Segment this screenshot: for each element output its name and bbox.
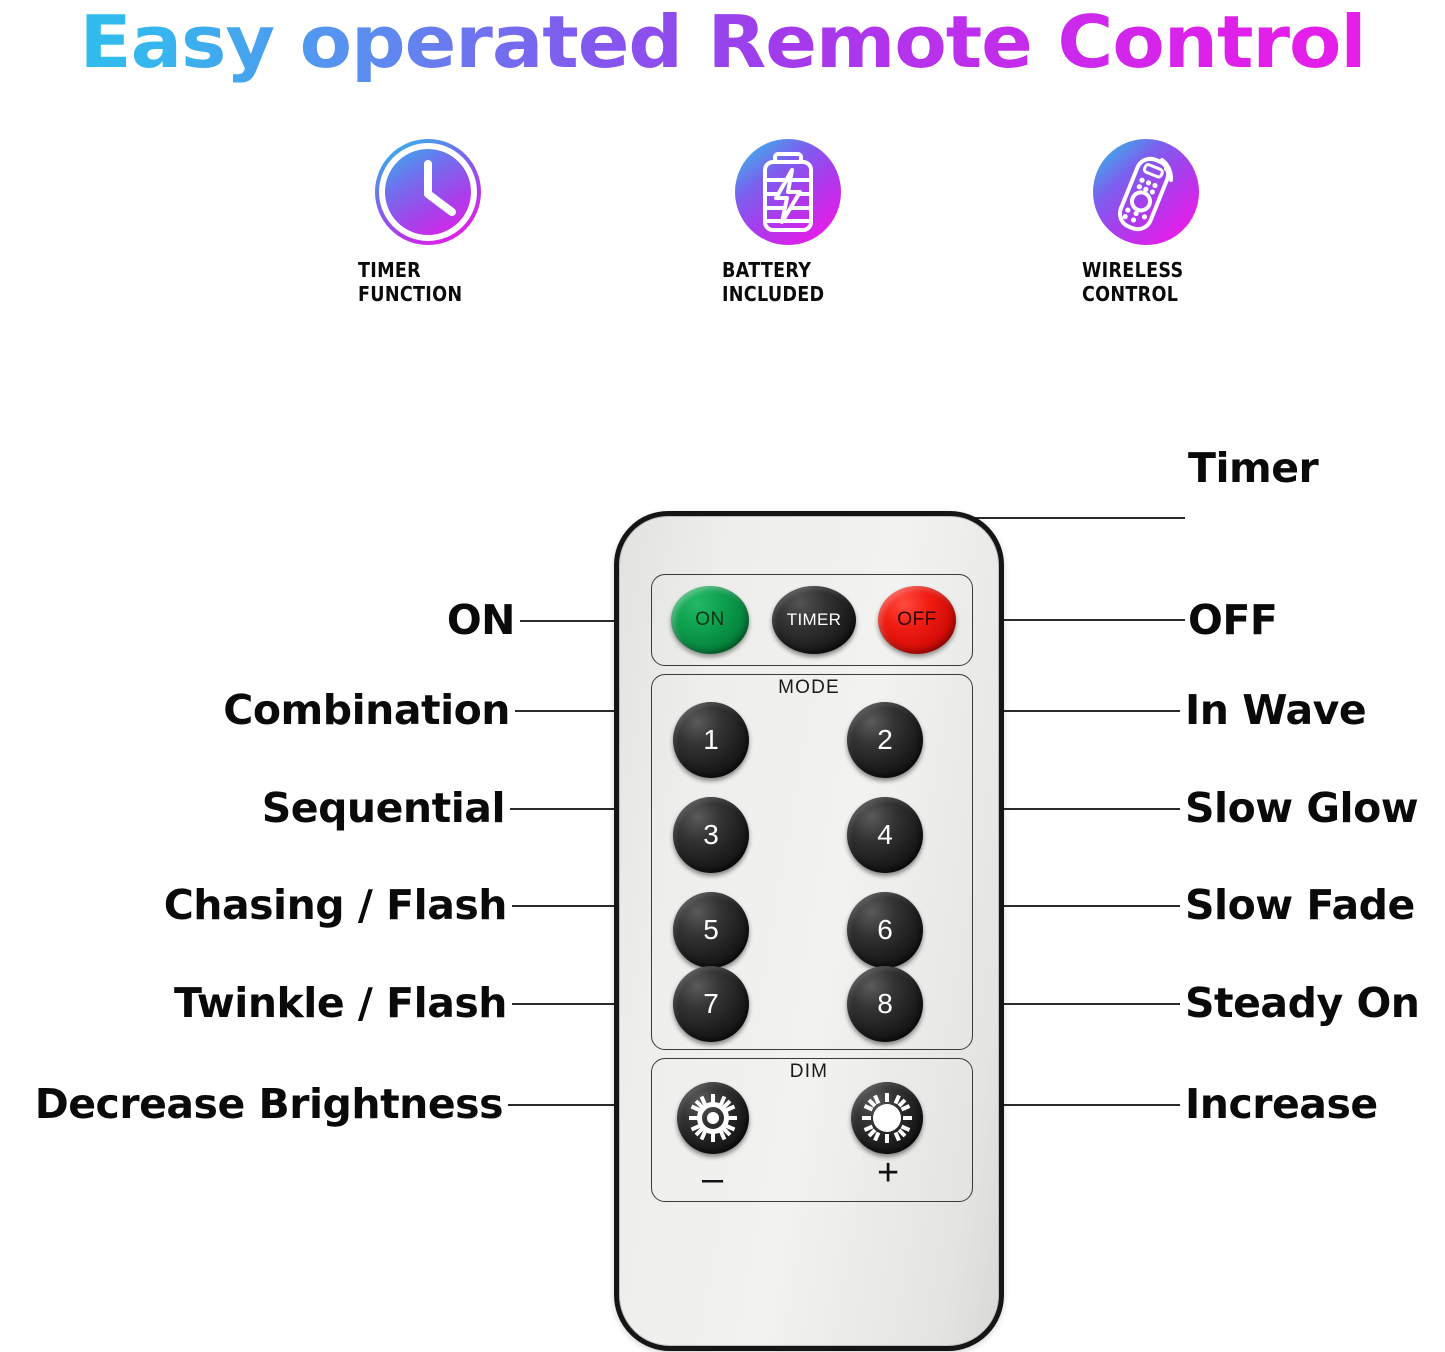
feature-badge-wireless: WIRELESS CONTROL [1082, 136, 1342, 306]
feature-badge-timer-label: TIMER FUNCTION [358, 258, 587, 306]
page-title: Easy operated Remote Control [0, 0, 1445, 90]
feature-badge-row: TIMER FUNCTION BATTERY INCLUDED [0, 136, 1445, 316]
callout-chasing-flash: Chasing / Flash [164, 881, 507, 929]
feature-badge-battery: BATTERY INCLUDED [722, 136, 982, 306]
remote-button-mode-7[interactable]: 7 [673, 966, 749, 1042]
dim-panel-label: DIM [619, 1061, 999, 1083]
remote-button-timer[interactable]: TIMER [772, 586, 856, 654]
callout-combination: Combination [223, 686, 510, 734]
callout-twinkle-flash: Twinkle / Flash [174, 979, 507, 1027]
remote-button-mode-6[interactable]: 6 [847, 892, 923, 968]
callout-in-wave: In Wave [1185, 686, 1366, 734]
remote-button-mode-5[interactable]: 5 [673, 892, 749, 968]
dim-decrease-sign: – [702, 1160, 723, 1198]
remote-button-on[interactable]: ON [671, 586, 749, 654]
callout-off: OFF [1188, 596, 1277, 644]
remote-control-body: MODE DIM ON TIMER OFF 1 2 3 4 5 6 7 8 [614, 511, 1004, 1351]
callout-steady-on: Steady On [1185, 979, 1420, 1027]
remote-button-mode-2[interactable]: 2 [847, 702, 923, 778]
feature-badge-wireless-label: WIRELESS CONTROL [1082, 258, 1311, 306]
dim-increase-sign: + [877, 1154, 899, 1192]
brightness-low-icon [685, 1090, 741, 1146]
remote-button-dim-decrease[interactable] [677, 1082, 749, 1154]
callout-sequential: Sequential [262, 784, 505, 832]
callout-decrease-brightness: Decrease Brightness [35, 1080, 503, 1128]
remote-icon [1090, 136, 1202, 248]
clock-icon [372, 136, 484, 248]
feature-badge-timer: TIMER FUNCTION [358, 136, 618, 306]
callout-slow-glow: Slow Glow [1185, 784, 1418, 832]
remote-button-mode-1[interactable]: 1 [673, 702, 749, 778]
callout-timer: Timer [1188, 444, 1318, 492]
remote-button-mode-8[interactable]: 8 [847, 966, 923, 1042]
battery-icon [732, 136, 844, 248]
feature-badge-battery-label: BATTERY INCLUDED [722, 258, 951, 306]
mode-panel-label: MODE [619, 677, 999, 699]
infographic-page: Easy operated Remote Control TIMER FUNCT… [0, 0, 1445, 1352]
remote-button-mode-4[interactable]: 4 [847, 797, 923, 873]
remote-button-off[interactable]: OFF [878, 586, 956, 654]
remote-button-dim-increase[interactable] [851, 1082, 923, 1154]
brightness-high-icon [859, 1090, 915, 1146]
callout-increase: Increase [1185, 1080, 1378, 1128]
remote-button-mode-3[interactable]: 3 [673, 797, 749, 873]
callout-slow-fade: Slow Fade [1185, 881, 1415, 929]
callout-on: ON [447, 596, 515, 644]
